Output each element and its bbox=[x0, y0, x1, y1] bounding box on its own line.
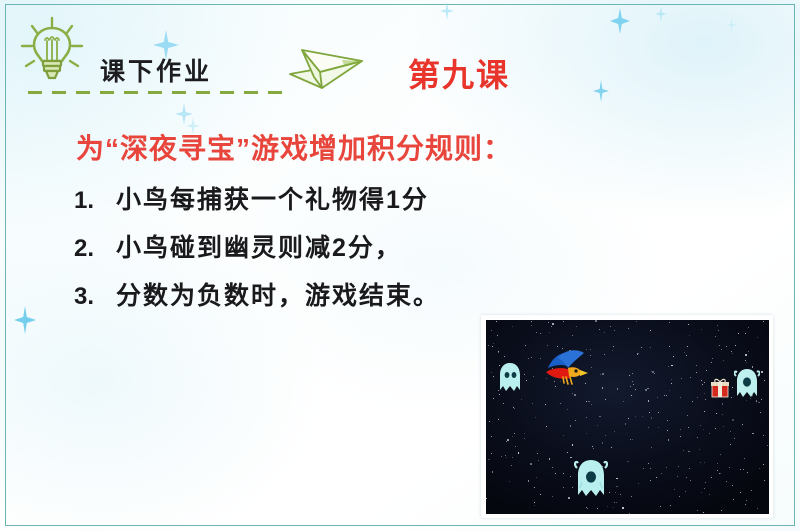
list-item-text: 小鸟碰到幽灵则减2分， bbox=[116, 228, 402, 264]
lightbulb-icon bbox=[16, 14, 88, 92]
list-item: 1. 小鸟每捕获一个礼物得1分 bbox=[74, 180, 494, 228]
ghost-icon bbox=[574, 458, 608, 502]
paper-plane-icon bbox=[284, 44, 368, 92]
dashed-underline bbox=[28, 91, 291, 94]
sparkle-decoration bbox=[610, 8, 630, 34]
game-screenshot bbox=[481, 315, 773, 518]
sparkle-decoration bbox=[593, 80, 609, 102]
list-item: 3. 分数为负数时，游戏结束。 bbox=[74, 276, 494, 324]
ghost-icon bbox=[498, 362, 522, 396]
rule-heading: 为“深夜寻宝”游戏增加积分规则： bbox=[76, 127, 512, 167]
sparkle-decoration bbox=[440, 2, 454, 20]
sparkle-decoration bbox=[655, 6, 667, 22]
starfield bbox=[486, 320, 769, 514]
list-item-number: 2. bbox=[74, 235, 116, 263]
list-item-number: 1. bbox=[74, 187, 116, 215]
sparkle-decoration bbox=[726, 18, 737, 32]
game-canvas bbox=[486, 320, 769, 514]
gift-icon bbox=[711, 378, 729, 398]
sparkle-decoration bbox=[175, 103, 193, 125]
sparkle-decoration bbox=[14, 306, 36, 334]
list-item: 2. 小鸟碰到幽灵则减2分， bbox=[74, 228, 494, 276]
slide-canvas: 课下作业 第九课 为“深夜寻宝”游戏增加积分规则： 1. 小鸟每捕获一个礼物得1… bbox=[0, 0, 800, 531]
rules-list: 1. 小鸟每捕获一个礼物得1分 2. 小鸟碰到幽灵则减2分， 3. 分数为负数时… bbox=[74, 180, 494, 324]
list-item-text: 小鸟每捕获一个礼物得1分 bbox=[116, 180, 429, 216]
list-item-text: 分数为负数时，游戏结束。 bbox=[116, 276, 440, 312]
section-subtitle: 课下作业 bbox=[100, 52, 212, 88]
lesson-title: 第九课 bbox=[408, 50, 510, 96]
ghost-icon bbox=[734, 368, 760, 402]
list-item-number: 3. bbox=[74, 283, 116, 311]
bird-icon bbox=[538, 348, 594, 390]
